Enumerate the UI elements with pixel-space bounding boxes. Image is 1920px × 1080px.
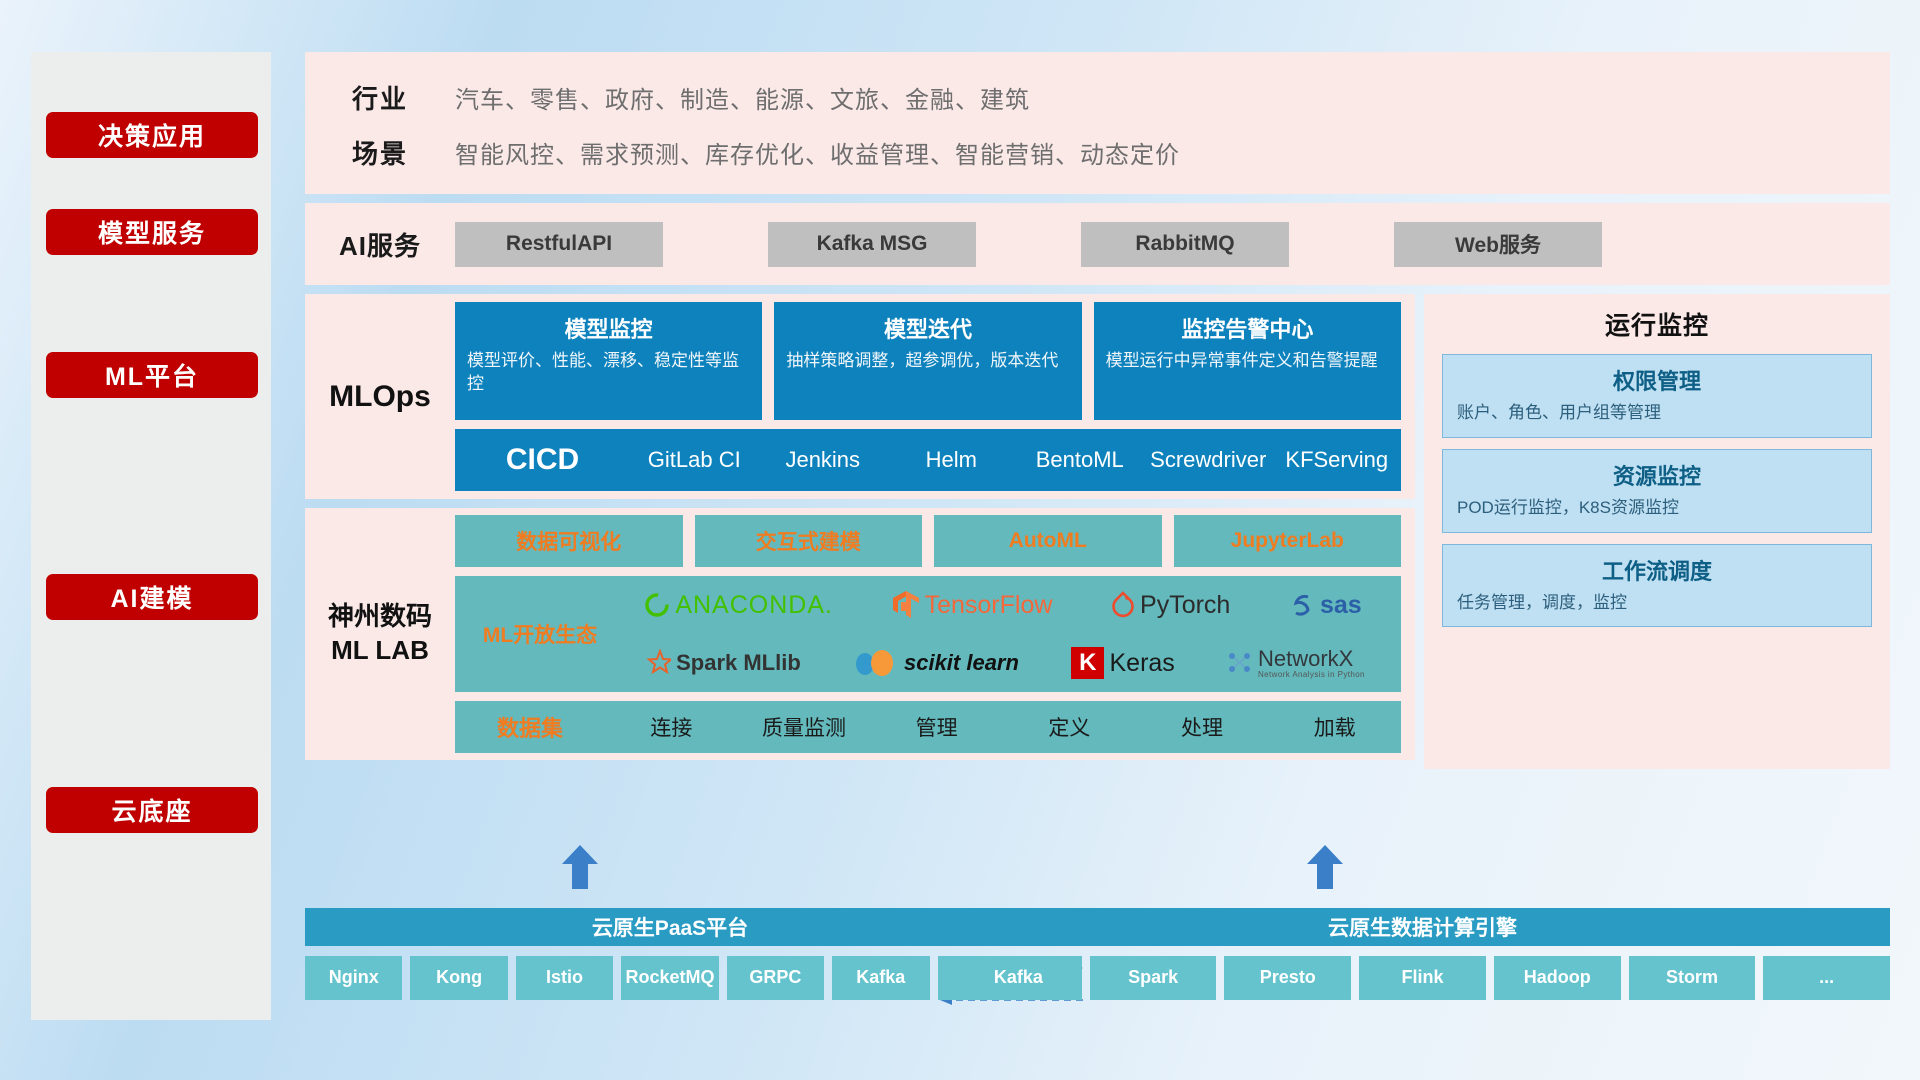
- dataset-bar: 数据集 连接 质量监测 管理 定义 处理 加载: [455, 701, 1401, 753]
- data-chip-presto[interactable]: Presto: [1224, 956, 1351, 1000]
- badge-decision-apps[interactable]: 决策应用: [46, 112, 258, 158]
- data-engine-group: 云原生数据计算引擎 Kafka Spark Presto Flink Hadoo…: [955, 908, 1890, 1000]
- logo-anaconda-text: ANACONDA.: [675, 591, 833, 620]
- cicd-item-jenkins[interactable]: Jenkins: [759, 444, 888, 476]
- spark-star-icon: [641, 649, 671, 677]
- industry-values: 汽车、零售、政府、制造、能源、文旅、金融、建筑: [455, 80, 1030, 115]
- paas-chip-kong[interactable]: Kong: [410, 956, 507, 1000]
- card-desc: 账户、角色、用户组等管理: [1457, 401, 1857, 425]
- ecosystem-logo-grid: ANACONDA. TensorFlow: [615, 576, 1391, 692]
- card-title: 权限管理: [1457, 364, 1857, 396]
- ai-service-band: AI服务 RestfulAPI Kafka MSG RabbitMQ Web服务: [305, 203, 1890, 285]
- paas-chip-rocketmq[interactable]: RocketMQ: [621, 956, 718, 1000]
- logo-row-2: Spark MLlib scikit learn: [615, 634, 1391, 692]
- dataset-item-manage[interactable]: 管理: [870, 712, 1003, 742]
- logo-keras: K Keras: [1071, 647, 1175, 679]
- ai-service-label: AI服务: [305, 226, 455, 263]
- paas-platform-title: 云原生PaaS平台: [305, 908, 1035, 946]
- logo-spark-text: Spark MLlib: [676, 650, 801, 676]
- data-chip-list: Kafka Spark Presto Flink Hadoop Storm ..…: [955, 956, 1890, 1000]
- data-chip-more[interactable]: ...: [1763, 956, 1890, 1000]
- arrow-up-paas-icon: [560, 845, 600, 889]
- card-desc: 抽样策略调整，超参调优，版本迭代: [786, 350, 1069, 373]
- ai-service-chip-list: RestfulAPI Kafka MSG RabbitMQ Web服务: [455, 222, 1602, 267]
- industry-row: 行业 汽车、零售、政府、制造、能源、文旅、金融、建筑: [305, 70, 1890, 125]
- dataset-title: 数据集: [455, 711, 605, 743]
- monitor-card-workflow[interactable]: 工作流调度 任务管理，调度，监控: [1442, 544, 1872, 628]
- ml-open-ecosystem-box: ML开放生态 ANACONDA.: [455, 576, 1401, 692]
- dataset-item-list: 连接 质量监测 管理 定义 处理 加载: [605, 712, 1401, 742]
- pytorch-icon: [1111, 591, 1135, 619]
- ml-lab-tool-list: 数据可视化 交互式建模 AutoML JupyterLab: [455, 515, 1401, 567]
- mlops-label: MLOps: [305, 380, 455, 414]
- service-chip-restfulapi[interactable]: RestfulAPI: [455, 222, 663, 267]
- logo-sas: sas: [1289, 591, 1362, 620]
- logo-tensorflow-text: TensorFlow: [925, 591, 1053, 620]
- logo-scikit-learn: scikit learn: [853, 648, 1019, 678]
- logo-row-1: ANACONDA. TensorFlow: [615, 576, 1391, 634]
- data-chip-storm[interactable]: Storm: [1629, 956, 1756, 1000]
- paas-platform-group: 云原生PaaS平台 Nginx Kong Istio RocketMQ GRPC…: [305, 908, 1035, 1000]
- cicd-bar: CICD GitLab CI Jenkins Helm BentoML Scre…: [455, 429, 1401, 491]
- dataset-item-quality[interactable]: 质量监测: [738, 712, 871, 742]
- logo-pytorch-text: PyTorch: [1140, 591, 1230, 620]
- logo-anaconda: ANACONDA.: [644, 591, 833, 620]
- lab-tool-jupyterlab[interactable]: JupyterLab: [1174, 515, 1402, 567]
- paas-chip-grpc[interactable]: GRPC: [727, 956, 824, 1000]
- scenario-row: 场景 智能风控、需求预测、库存优化、收益管理、智能营销、动态定价: [305, 125, 1890, 180]
- left-stage-rail: 决策应用 模型服务 ML平台 AI建模 云底座: [31, 52, 271, 1020]
- logo-networkx-text: NetworkX: [1258, 648, 1365, 670]
- paas-chip-nginx[interactable]: Nginx: [305, 956, 402, 1000]
- monitor-card-permission[interactable]: 权限管理 账户、角色、用户组等管理: [1442, 354, 1872, 438]
- anaconda-icon: [644, 592, 670, 618]
- card-title: 模型迭代: [786, 312, 1069, 344]
- ml-lab-label-line1: 神州数码: [305, 600, 455, 634]
- mlops-band: MLOps 模型监控 模型评价、性能、漂移、稳定性等监控 模型迭代 抽样策略调整…: [305, 294, 1415, 499]
- arrow-up-data-icon: [1305, 845, 1345, 889]
- cicd-title: CICD: [455, 443, 630, 477]
- sas-icon: [1289, 592, 1315, 618]
- badge-model-service[interactable]: 模型服务: [46, 209, 258, 255]
- mlops-and-monitor-row: MLOps 模型监控 模型评价、性能、漂移、稳定性等监控 模型迭代 抽样策略调整…: [305, 294, 1890, 769]
- decision-apps-band: 行业 汽车、零售、政府、制造、能源、文旅、金融、建筑 场景 智能风控、需求预测、…: [305, 52, 1890, 194]
- data-chip-spark[interactable]: Spark: [1090, 956, 1217, 1000]
- logo-spark-mllib: Spark MLlib: [641, 649, 801, 677]
- cicd-item-bentoml[interactable]: BentoML: [1016, 444, 1145, 476]
- logo-tensorflow: TensorFlow: [892, 590, 1053, 620]
- card-desc: 模型评价、性能、漂移、稳定性等监控: [467, 350, 750, 396]
- cicd-item-list: GitLab CI Jenkins Helm BentoML Screwdriv…: [630, 444, 1401, 476]
- ml-lab-label: 神州数码 ML LAB: [305, 600, 455, 668]
- ml-lab-label-line2: ML LAB: [305, 634, 455, 668]
- cicd-item-helm[interactable]: Helm: [887, 444, 1016, 476]
- architecture-main-column: 行业 汽车、零售、政府、制造、能源、文旅、金融、建筑 场景 智能风控、需求预测、…: [305, 52, 1890, 769]
- ml-ecosystem-label: ML开放生态: [465, 619, 615, 649]
- logo-networkx-subtitle: Network Analysis in Python: [1258, 670, 1365, 679]
- dataset-item-load[interactable]: 加载: [1268, 712, 1401, 742]
- lab-tool-data-visualization[interactable]: 数据可视化: [455, 515, 683, 567]
- networkx-icon: [1227, 650, 1253, 676]
- paas-chip-istio[interactable]: Istio: [516, 956, 613, 1000]
- scenario-label: 场景: [305, 134, 455, 171]
- cicd-item-screwdriver[interactable]: Screwdriver: [1144, 444, 1273, 476]
- monitor-card-resource[interactable]: 资源监控 POD运行监控，K8S资源监控: [1442, 449, 1872, 533]
- paas-chip-list: Nginx Kong Istio RocketMQ GRPC Kafka ...: [305, 956, 1035, 1000]
- card-desc: 模型运行中异常事件定义和告警提醒: [1106, 350, 1389, 373]
- ml-lab-band: 神州数码 ML LAB 数据可视化 交互式建模 AutoML JupyterLa…: [305, 508, 1415, 760]
- data-chip-kafka[interactable]: Kafka: [955, 956, 1082, 1000]
- runtime-monitor-title: 运行监控: [1442, 306, 1872, 342]
- lab-tool-interactive-modeling[interactable]: 交互式建模: [695, 515, 923, 567]
- cicd-item-kfserving[interactable]: KFServing: [1273, 444, 1402, 476]
- data-engine-title: 云原生数据计算引擎: [955, 908, 1890, 946]
- logo-networkx: NetworkX Network Analysis in Python: [1227, 648, 1365, 679]
- cloud-foundation-layer: 云原生PaaS平台 Nginx Kong Istio RocketMQ GRPC…: [305, 880, 1890, 1055]
- keras-k-icon: K: [1071, 647, 1104, 679]
- service-chip-rabbitmq[interactable]: RabbitMQ: [1081, 222, 1289, 267]
- card-title: 监控告警中心: [1106, 312, 1389, 344]
- logo-scikit-text: scikit learn: [904, 650, 1019, 676]
- card-desc: 任务管理，调度，监控: [1457, 591, 1857, 615]
- badge-cloud-base[interactable]: 云底座: [46, 787, 258, 833]
- card-title: 工作流调度: [1457, 554, 1857, 586]
- mlops-card-alert-center[interactable]: 监控告警中心 模型运行中异常事件定义和告警提醒: [1094, 302, 1401, 420]
- logo-sas-text: sas: [1320, 591, 1362, 620]
- runtime-monitor-panel: 运行监控 权限管理 账户、角色、用户组等管理 资源监控 POD运行监控，K8S资…: [1424, 294, 1890, 769]
- service-chip-web-service[interactable]: Web服务: [1394, 222, 1602, 267]
- card-title: 模型监控: [467, 312, 750, 344]
- cicd-item-gitlab-ci[interactable]: GitLab CI: [630, 444, 759, 476]
- paas-chip-kafka[interactable]: Kafka: [832, 956, 929, 1000]
- industry-label: 行业: [305, 79, 455, 116]
- logo-pytorch: PyTorch: [1111, 591, 1230, 620]
- tensorflow-icon: [892, 590, 920, 620]
- logo-keras-text: Keras: [1109, 649, 1174, 678]
- mlops-card-model-monitoring[interactable]: 模型监控 模型评价、性能、漂移、稳定性等监控: [455, 302, 762, 420]
- data-chip-hadoop[interactable]: Hadoop: [1494, 956, 1621, 1000]
- service-chip-kafka-msg[interactable]: Kafka MSG: [768, 222, 976, 267]
- badge-ml-platform[interactable]: ML平台: [46, 352, 258, 398]
- dataset-item-process[interactable]: 处理: [1136, 712, 1269, 742]
- mlops-card-list: 模型监控 模型评价、性能、漂移、稳定性等监控 模型迭代 抽样策略调整，超参调优，…: [455, 302, 1401, 420]
- dataset-item-define[interactable]: 定义: [1003, 712, 1136, 742]
- card-title: 资源监控: [1457, 459, 1857, 491]
- mlops-card-model-iteration[interactable]: 模型迭代 抽样策略调整，超参调优，版本迭代: [774, 302, 1081, 420]
- scikit-learn-icon: [853, 648, 899, 678]
- dataset-item-connect[interactable]: 连接: [605, 712, 738, 742]
- card-desc: POD运行监控，K8S资源监控: [1457, 496, 1857, 520]
- badge-ai-modeling[interactable]: AI建模: [46, 574, 258, 620]
- lab-tool-automl[interactable]: AutoML: [934, 515, 1162, 567]
- scenario-values: 智能风控、需求预测、库存优化、收益管理、智能营销、动态定价: [455, 135, 1180, 170]
- data-chip-flink[interactable]: Flink: [1359, 956, 1486, 1000]
